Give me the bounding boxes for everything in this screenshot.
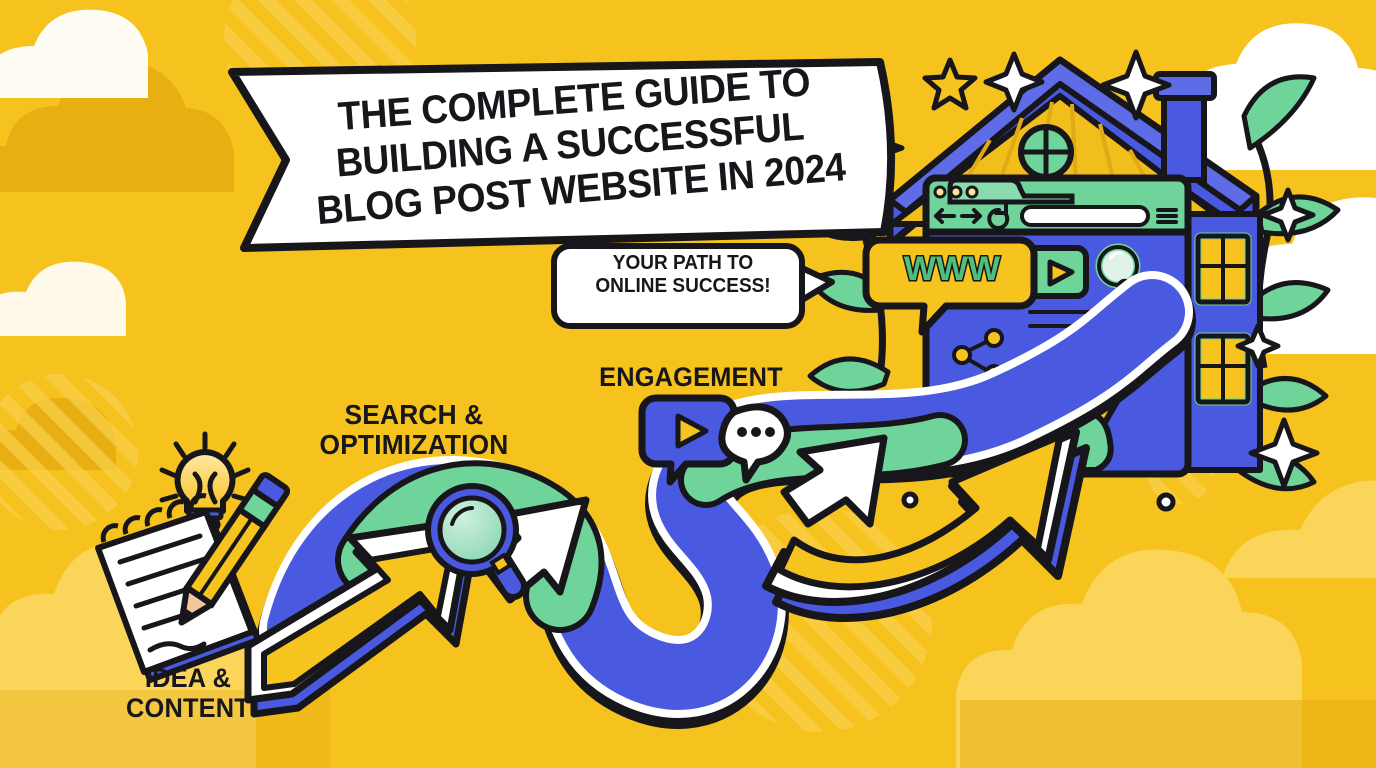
- lightbulb-glass: [178, 452, 233, 511]
- dot: [904, 494, 916, 506]
- title-banner: [232, 62, 891, 248]
- gable-round-window: [1021, 127, 1071, 177]
- chat-dots: [737, 427, 775, 437]
- house-chimney: [1156, 74, 1214, 180]
- path-arrow-3: [784, 438, 884, 524]
- infographic-canvas: THE COMPLETE GUIDE TO BUILDING A SUCCESS…: [0, 0, 1376, 768]
- cloud-shadow-band: [960, 700, 1376, 768]
- hamburger-menu-icon: [1158, 210, 1176, 222]
- traffic-light-dots: [935, 187, 977, 197]
- illustration-artboard: [0, 0, 1376, 768]
- dot: [1159, 495, 1173, 509]
- speech-bubble: [554, 246, 832, 326]
- browser-url-bar: [1022, 207, 1148, 225]
